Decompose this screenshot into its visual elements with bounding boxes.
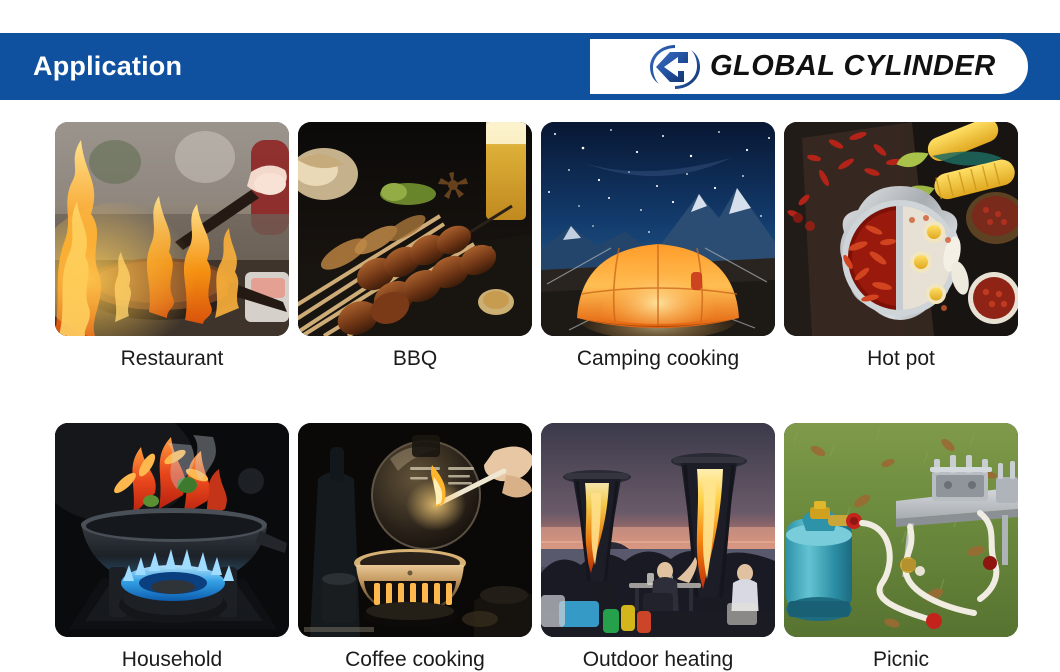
restaurant-wok-flames-photo[interactable]	[55, 122, 289, 336]
gallery-caption: Camping cooking	[541, 347, 775, 371]
gallery-caption: Picnic	[784, 648, 1018, 672]
household-gas-stove-wok-photo[interactable]	[55, 423, 289, 637]
gallery-caption: Hot pot	[784, 347, 1018, 371]
brand-logo-panel: GLOBAL CYLINDER	[588, 37, 1030, 96]
gallery-item-picnic[interactable]: Picnic	[784, 423, 1018, 672]
gallery-item-hot-pot[interactable]: Hot pot	[784, 122, 1018, 371]
gallery-caption: Restaurant	[55, 347, 289, 371]
camping-tent-night-photo[interactable]	[541, 122, 775, 336]
gallery-item-outdoor-heating[interactable]: Outdoor heating	[541, 423, 775, 672]
siphon-coffee-burner-photo[interactable]	[298, 423, 532, 637]
bbq-skewers-photo[interactable]	[298, 122, 532, 336]
page-title: Application	[33, 53, 182, 80]
application-header-bar: Application GLOBAL CYLINDER	[0, 33, 1060, 100]
gallery-caption: Coffee cooking	[298, 648, 532, 672]
application-gallery: Restaurant	[55, 122, 1007, 672]
global-cylinder-swirl-icon	[648, 43, 702, 91]
gallery-item-camping-cooking[interactable]: Camping cooking	[541, 122, 775, 371]
gallery-item-bbq[interactable]: BBQ	[298, 122, 532, 371]
outdoor-patio-flame-heaters-photo[interactable]	[541, 423, 775, 637]
gallery-caption: Household	[55, 648, 289, 672]
gallery-item-coffee-cooking[interactable]: Coffee cooking	[298, 423, 532, 672]
gallery-caption: Outdoor heating	[541, 648, 775, 672]
gallery-item-household[interactable]: Household	[55, 423, 289, 672]
gallery-row-1: Restaurant	[55, 122, 1007, 371]
picnic-lpg-cylinder-stove-photo[interactable]	[784, 423, 1018, 637]
gallery-row-2: Household	[55, 423, 1007, 672]
brand-logo-text: GLOBAL CYLINDER	[710, 50, 996, 83]
gallery-item-restaurant[interactable]: Restaurant	[55, 122, 289, 371]
hot-pot-split-broth-photo[interactable]	[784, 122, 1018, 336]
gallery-caption: BBQ	[298, 347, 532, 371]
